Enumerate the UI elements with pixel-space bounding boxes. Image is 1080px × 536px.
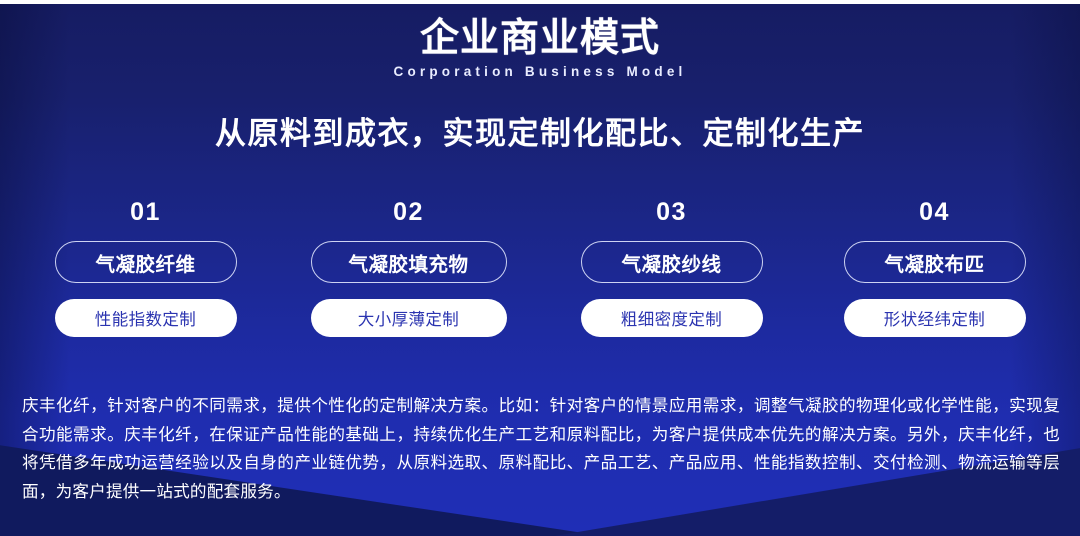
card-custom-pill[interactable]: 性能指数定制 — [55, 299, 237, 337]
card-custom-pill[interactable]: 大小厚薄定制 — [311, 299, 507, 337]
card-number: 02 — [393, 200, 424, 225]
card-number: 04 — [919, 200, 950, 225]
card-product-pill[interactable]: 气凝胶布匹 — [844, 241, 1026, 283]
product-card-row: 01 气凝胶纤维 性能指数定制 02 气凝胶填充物 大小厚薄定制 03 气凝胶纱… — [30, 200, 1050, 337]
page-title: 企业商业模式 — [0, 18, 1080, 61]
body-paragraph: 庆丰化纤，针对客户的不同需求，提供个性化的定制解决方案。比如：针对客户的情景应用… — [22, 392, 1060, 506]
card-number: 01 — [130, 200, 161, 225]
card-custom-pill[interactable]: 粗细密度定制 — [581, 299, 763, 337]
product-card-03: 03 气凝胶纱线 粗细密度定制 — [556, 200, 787, 337]
top-edge-strip — [0, 0, 1080, 4]
card-product-pill[interactable]: 气凝胶纤维 — [55, 241, 237, 283]
page-subtitle: Corporation Business Model — [0, 64, 1080, 79]
card-custom-pill[interactable]: 形状经纬定制 — [844, 299, 1026, 337]
card-product-pill[interactable]: 气凝胶填充物 — [311, 241, 507, 283]
card-product-pill[interactable]: 气凝胶纱线 — [581, 241, 763, 283]
product-card-04: 04 气凝胶布匹 形状经纬定制 — [819, 200, 1050, 337]
card-number: 03 — [656, 200, 687, 225]
slide-canvas: 企业商业模式 Corporation Business Model 从原料到成衣… — [0, 0, 1080, 536]
product-card-02: 02 气凝胶填充物 大小厚薄定制 — [293, 200, 524, 337]
product-card-01: 01 气凝胶纤维 性能指数定制 — [30, 200, 261, 337]
section-headline: 从原料到成衣，实现定制化配比、定制化生产 — [0, 108, 1080, 153]
